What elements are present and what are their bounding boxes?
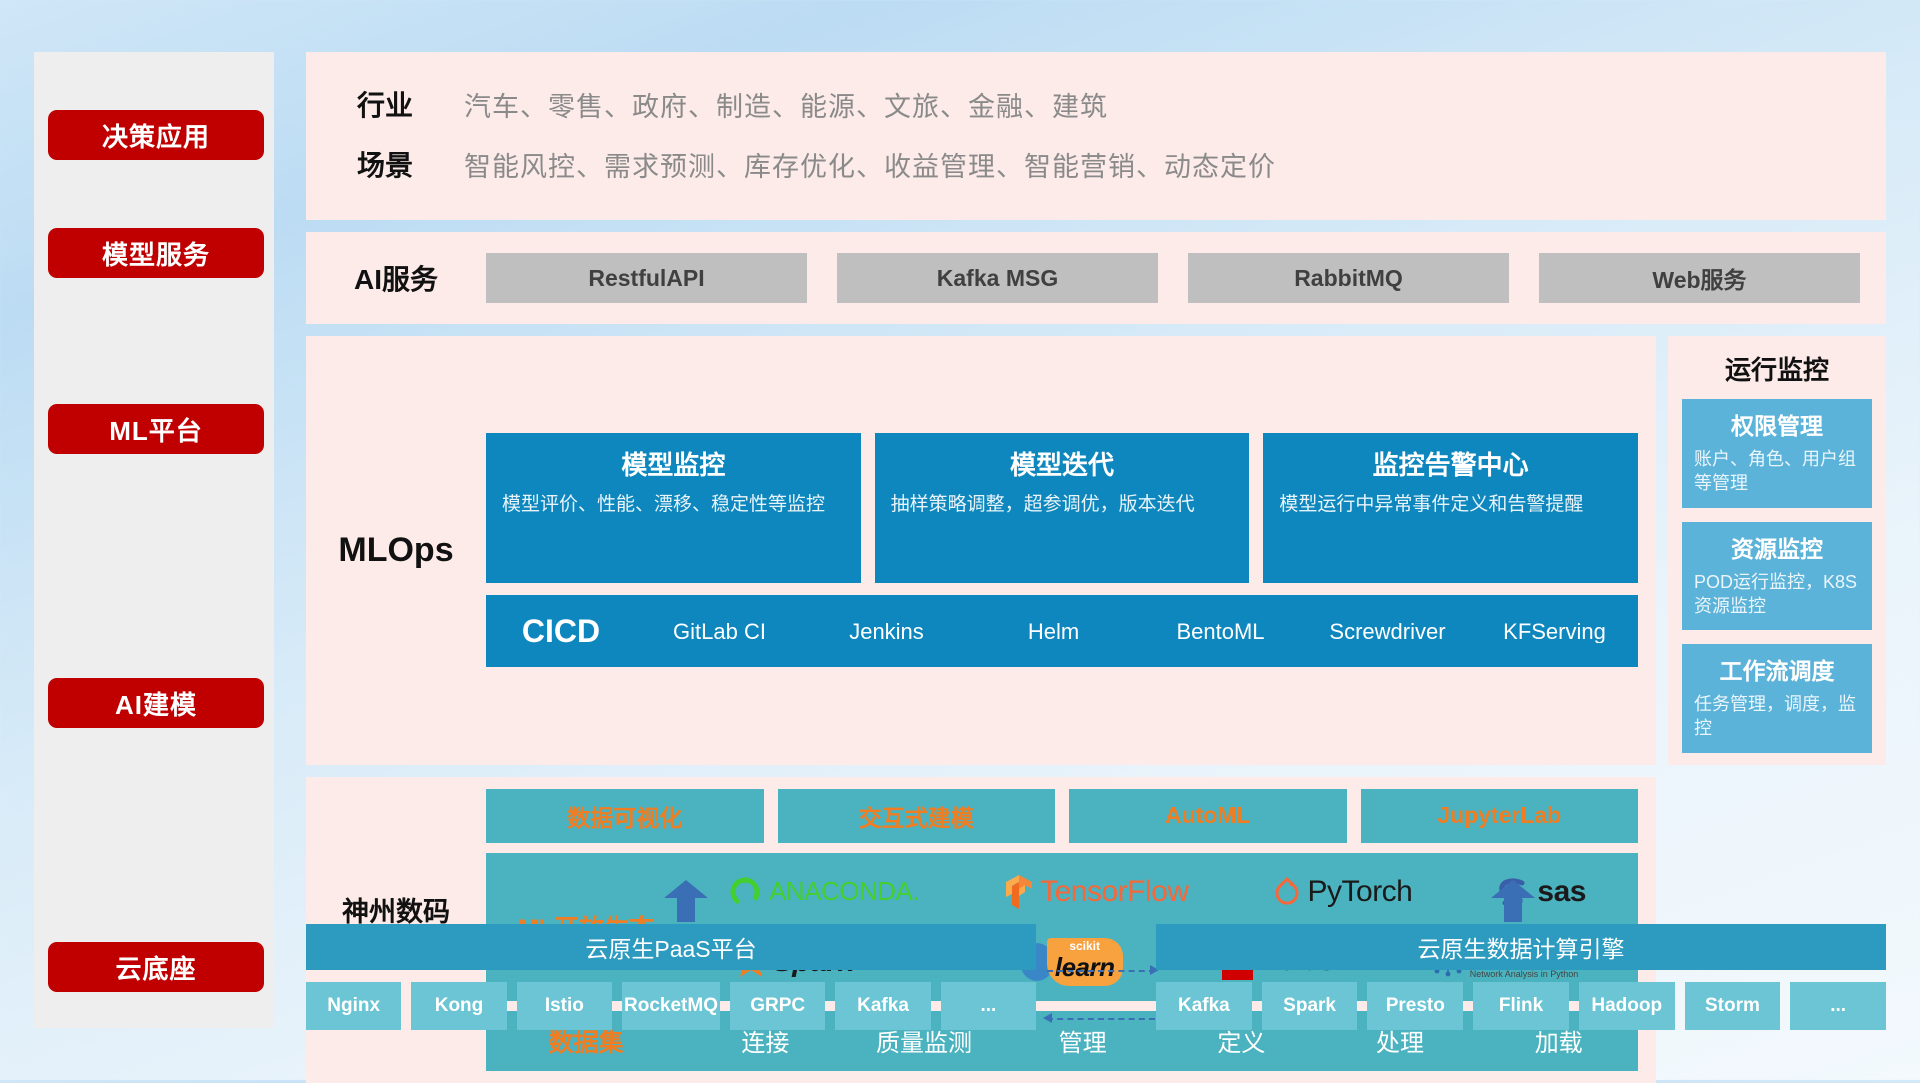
- engine-tag-hadoop[interactable]: Hadoop: [1579, 982, 1675, 1030]
- card-title: 模型监控: [502, 445, 845, 482]
- decision-app-band: 行业 汽车、零售、政府、制造、能源、文旅、金融、建筑 场景 智能风控、需求预测、…: [306, 52, 1886, 220]
- cicd-title: CICD: [486, 613, 636, 650]
- lab-tools: 数据可视化 交互式建模 AutoML JupyterLab: [486, 789, 1638, 843]
- layer-chip-cloud-base[interactable]: 云底座: [48, 942, 264, 992]
- cicd-item-kfserving[interactable]: KFServing: [1471, 620, 1638, 643]
- cicd-item-jenkins[interactable]: Jenkins: [803, 620, 970, 643]
- mlops-card-model-monitoring[interactable]: 模型监控 模型评价、性能、漂移、稳定性等监控: [486, 433, 861, 583]
- service-box-kafka-msg[interactable]: Kafka MSG: [837, 253, 1158, 303]
- layer-rail: [34, 52, 274, 1028]
- engine-tag-storm[interactable]: Storm: [1685, 982, 1781, 1030]
- industry-label: 行业: [306, 84, 464, 124]
- layer-chip-label: 云底座: [115, 949, 196, 986]
- mlops-card-model-iteration[interactable]: 模型迭代 抽样策略调整，超参调优，版本迭代: [875, 433, 1250, 583]
- ai-service-label: AI服务: [306, 258, 486, 298]
- cicd-items: GitLab CI Jenkins Helm BentoML Screwdriv…: [636, 620, 1638, 643]
- engine-tag-kafka[interactable]: Kafka: [1156, 982, 1252, 1030]
- tool-data-visualization[interactable]: 数据可视化: [486, 789, 764, 843]
- paas-tag-nginx[interactable]: Nginx: [306, 982, 401, 1030]
- cicd-item-bentoml[interactable]: BentoML: [1137, 620, 1304, 643]
- mlops-content: 模型监控 模型评价、性能、漂移、稳定性等监控 模型迭代 抽样策略调整，超参调优，…: [486, 433, 1656, 667]
- cloud-base-row: 云原生PaaS平台 Nginx Kong Istio RocketMQ GRPC…: [306, 880, 1886, 1030]
- paas-header: 云原生PaaS平台: [306, 924, 1036, 970]
- card-desc: 模型运行中异常事件定义和告警提醒: [1279, 492, 1622, 518]
- paas-column: 云原生PaaS平台 Nginx Kong Istio RocketMQ GRPC…: [306, 924, 1036, 1030]
- cloud-base-arrows: [306, 880, 1886, 924]
- monitor-card-workflow[interactable]: 工作流调度 任务管理，调度，监控: [1682, 644, 1872, 753]
- scenario-line: 场景 智能风控、需求预测、库存优化、收益管理、智能营销、动态定价: [306, 134, 1886, 194]
- card-desc: 任务管理，调度，监控: [1694, 692, 1860, 741]
- mlops-band: MLOps 模型监控 模型评价、性能、漂移、稳定性等监控 模型迭代 抽样策略调整…: [306, 336, 1656, 765]
- card-title: 权限管理: [1694, 407, 1860, 441]
- layer-chip-decision-app[interactable]: 决策应用: [48, 110, 264, 160]
- data-engine-column: 云原生数据计算引擎 Kafka Spark Presto Flink Hadoo…: [1156, 924, 1886, 1030]
- card-desc: 账户、角色、用户组等管理: [1694, 447, 1860, 496]
- card-desc: POD运行监控，K8S资源监控: [1694, 570, 1860, 619]
- layer-chip-label: 模型服务: [102, 235, 210, 272]
- card-title: 工作流调度: [1694, 652, 1860, 686]
- cicd-row: CICD GitLab CI Jenkins Helm BentoML Scre…: [486, 595, 1638, 667]
- paas-tag-kong[interactable]: Kong: [411, 982, 506, 1030]
- card-title: 监控告警中心: [1279, 445, 1622, 482]
- layer-chip-label: ML平台: [109, 411, 203, 448]
- service-box-restfulapi[interactable]: RestfulAPI: [486, 253, 807, 303]
- diagram-canvas: 决策应用 模型服务 ML平台 AI建模 云底座 行业 汽车、零售、政府、制造、能…: [0, 0, 1920, 1080]
- ai-service-items: RestfulAPI Kafka MSG RabbitMQ Web服务: [486, 253, 1886, 303]
- arrowhead-left-icon: [1043, 1013, 1052, 1023]
- layer-chip-label: 决策应用: [102, 117, 210, 154]
- service-box-rabbitmq[interactable]: RabbitMQ: [1188, 253, 1509, 303]
- dashed-line-right: [1047, 970, 1155, 972]
- dashed-line-left: [1047, 1018, 1155, 1020]
- runtime-monitor-panel: 运行监控 权限管理 账户、角色、用户组等管理 资源监控 POD运行监控，K8S资…: [1668, 336, 1886, 765]
- app-lines: 行业 汽车、零售、政府、制造、能源、文旅、金融、建筑 场景 智能风控、需求预测、…: [306, 74, 1886, 194]
- card-title: 模型迭代: [891, 445, 1234, 482]
- tool-jupyterlab[interactable]: JupyterLab: [1361, 789, 1639, 843]
- layer-chip-ai-modeling[interactable]: AI建模: [48, 678, 264, 728]
- layer-chip-model-service[interactable]: 模型服务: [48, 228, 264, 278]
- service-box-web-service[interactable]: Web服务: [1539, 253, 1860, 303]
- card-desc: 抽样策略调整，超参调优，版本迭代: [891, 492, 1234, 518]
- monitor-card-permission[interactable]: 权限管理 账户、角色、用户组等管理: [1682, 399, 1872, 508]
- paas-tag-more[interactable]: ...: [941, 982, 1036, 1030]
- mlops-card-alert-center[interactable]: 监控告警中心 模型运行中异常事件定义和告警提醒: [1263, 433, 1638, 583]
- paas-tag-kafka[interactable]: Kafka: [835, 982, 930, 1030]
- industry-value: 汽车、零售、政府、制造、能源、文旅、金融、建筑: [464, 85, 1108, 124]
- scenario-value: 智能风控、需求预测、库存优化、收益管理、智能营销、动态定价: [464, 145, 1276, 184]
- layer-chip-label: AI建模: [115, 685, 197, 722]
- data-engine-header: 云原生数据计算引擎: [1156, 924, 1886, 970]
- bidirectional-link: [1043, 924, 1159, 1036]
- paas-tag-grpc[interactable]: GRPC: [730, 982, 825, 1030]
- engine-tag-presto[interactable]: Presto: [1367, 982, 1463, 1030]
- tool-interactive-modeling[interactable]: 交互式建模: [778, 789, 1056, 843]
- mlops-label: MLOps: [306, 531, 486, 570]
- engine-tag-more[interactable]: ...: [1790, 982, 1886, 1030]
- cicd-item-screwdriver[interactable]: Screwdriver: [1304, 620, 1471, 643]
- scenario-label: 场景: [306, 144, 464, 184]
- monitor-card-resource[interactable]: 资源监控 POD运行监控，K8S资源监控: [1682, 522, 1872, 631]
- card-desc: 模型评价、性能、漂移、稳定性等监控: [502, 492, 845, 518]
- paas-tag-rocketmq[interactable]: RocketMQ: [622, 982, 720, 1030]
- runtime-monitor-title: 运行监控: [1682, 350, 1872, 387]
- card-title: 资源监控: [1694, 530, 1860, 564]
- paas-tags: Nginx Kong Istio RocketMQ GRPC Kafka ...: [306, 982, 1036, 1030]
- engine-tag-spark[interactable]: Spark: [1262, 982, 1358, 1030]
- tool-automl[interactable]: AutoML: [1069, 789, 1347, 843]
- cicd-item-helm[interactable]: Helm: [970, 620, 1137, 643]
- up-arrow-data-engine-icon: [1491, 880, 1535, 922]
- up-arrow-paas-icon: [664, 880, 708, 922]
- cloud-base-columns: 云原生PaaS平台 Nginx Kong Istio RocketMQ GRPC…: [306, 924, 1886, 1030]
- layer-chip-ml-platform[interactable]: ML平台: [48, 404, 264, 454]
- engine-tag-flink[interactable]: Flink: [1473, 982, 1569, 1030]
- industry-line: 行业 汽车、零售、政府、制造、能源、文旅、金融、建筑: [306, 74, 1886, 134]
- paas-tag-istio[interactable]: Istio: [517, 982, 612, 1030]
- data-engine-tags: Kafka Spark Presto Flink Hadoop Storm ..…: [1156, 982, 1886, 1030]
- cicd-item-gitlab-ci[interactable]: GitLab CI: [636, 620, 803, 643]
- mlops-cards: 模型监控 模型评价、性能、漂移、稳定性等监控 模型迭代 抽样策略调整，超参调优，…: [486, 433, 1638, 583]
- ai-service-band: AI服务 RestfulAPI Kafka MSG RabbitMQ Web服务: [306, 232, 1886, 324]
- ml-platform-row: MLOps 模型监控 模型评价、性能、漂移、稳定性等监控 模型迭代 抽样策略调整…: [306, 336, 1886, 765]
